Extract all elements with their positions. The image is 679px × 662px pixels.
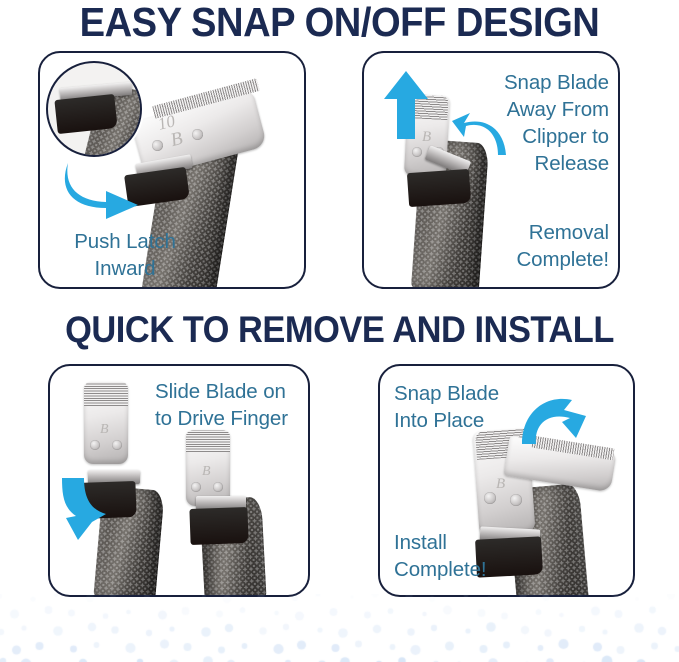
- seated-blade-screw-left: [484, 492, 496, 504]
- blade-screw-left-a: [90, 440, 100, 450]
- detached-blade-screw-left: [412, 147, 422, 157]
- clipper-shoe-right: [189, 507, 248, 545]
- panel-slide-blade-on-to-drive-finger: B B Slide Blade on to Drive Finger: [48, 364, 310, 597]
- blade-teeth-right: [186, 430, 230, 452]
- slide-blade-down-arrow: [56, 478, 106, 540]
- caption-removal-complete: Removal Complete!: [464, 219, 609, 273]
- panel-push-latch-inward: 10 B Push Latch Inward: [38, 51, 306, 289]
- polka-dot-band: [0, 594, 679, 662]
- blade-screw-right-b: [213, 482, 223, 492]
- blade-lift-up-arrow: [384, 71, 428, 139]
- push-latch-arrow: [60, 157, 144, 219]
- snap-into-place-curved-arrow: [520, 394, 586, 446]
- blade-screw-left-b: [112, 440, 122, 450]
- detached-blade-teeth-left: [84, 382, 128, 406]
- polka-dot-canvas: [0, 594, 679, 662]
- blade-screw-right-a: [191, 482, 201, 492]
- clipper-blade-shoe: [407, 169, 471, 207]
- latch-closeup-circle-inset: [46, 61, 142, 157]
- panel-snap-blade-away: B Snap Blade Away From Clipper to Releas…: [362, 51, 620, 289]
- caption-push-latch-inward: Push Latch Inward: [50, 228, 200, 282]
- caption-install-complete: Install Complete!: [394, 529, 524, 583]
- inset-shoe: [54, 94, 117, 134]
- page-title-bottom: QUICK TO REMOVE AND INSTALL: [24, 311, 655, 348]
- caption-snap-blade-into-place: Snap Blade Into Place: [394, 380, 524, 434]
- seated-blade-screw-right: [510, 494, 522, 506]
- page-title-top: EASY SNAP ON/OFF DESIGN: [24, 2, 655, 43]
- caption-slide-blade-on-to-drive-finger: Slide Blade on to Drive Finger: [155, 378, 307, 432]
- panel-snap-blade-into-place: B Snap Blade Into Place Install Complete…: [378, 364, 635, 597]
- caption-snap-blade-away-from-clipper: Snap Blade Away From Clipper to Release: [464, 69, 609, 177]
